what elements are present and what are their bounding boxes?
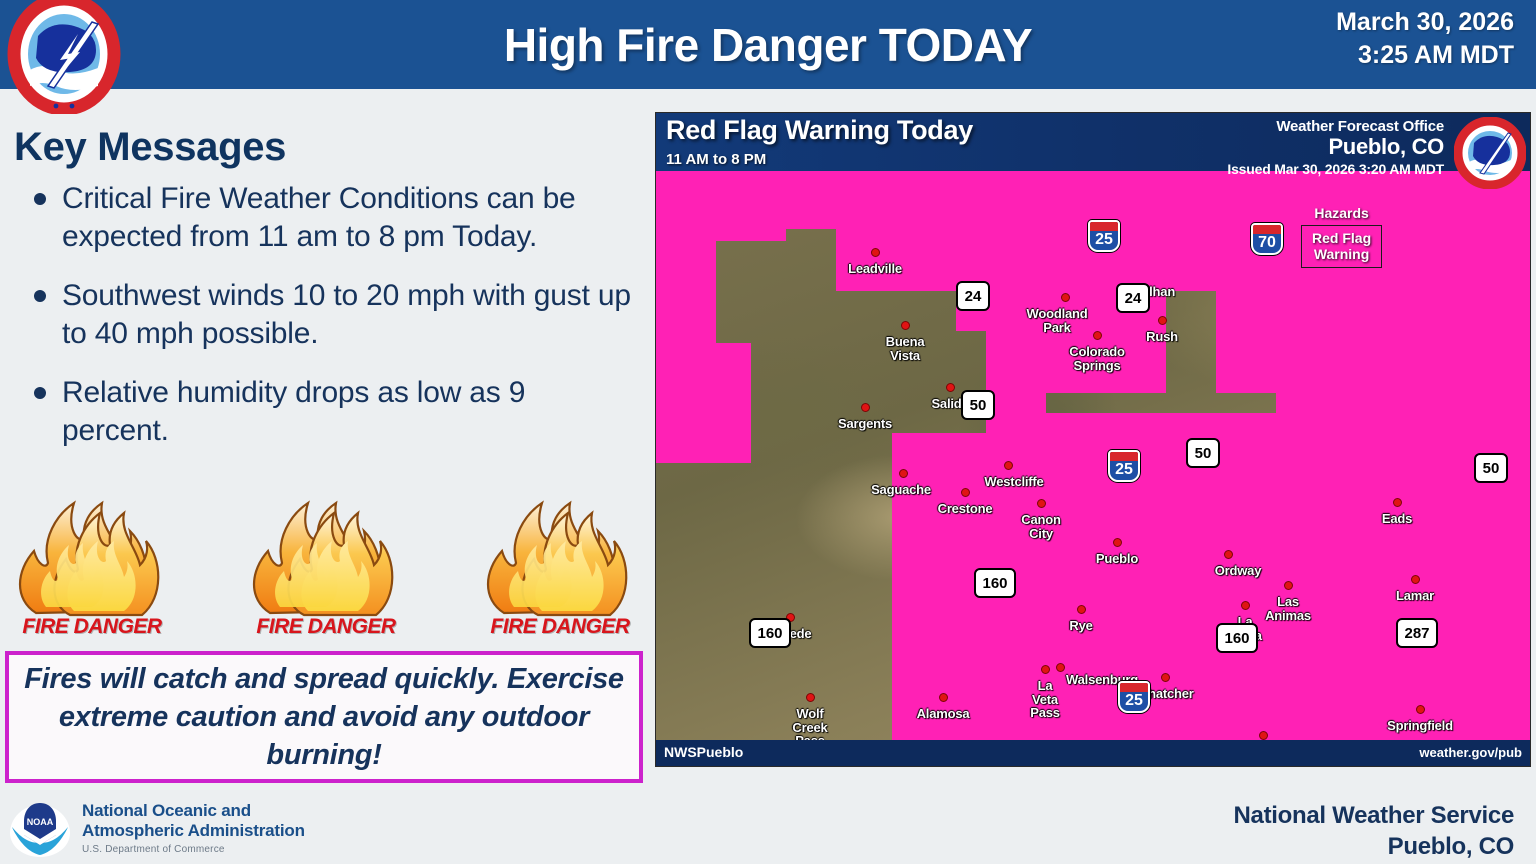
warning-area-polygon bbox=[656, 201, 786, 241]
city-label: Pueblo bbox=[1096, 552, 1138, 566]
svg-text:NOAA: NOAA bbox=[27, 817, 54, 827]
list-item: Critical Fire Weather Conditions can be … bbox=[28, 180, 638, 255]
us-highway-shield-icon: 287 bbox=[1396, 618, 1438, 648]
interstate-shield-icon: 25 bbox=[1108, 450, 1140, 482]
shield-number: 25 bbox=[1118, 681, 1150, 713]
fire-danger-icon-row: FIRE DANGER FIRE DANGER FIRE D bbox=[6, 495, 646, 647]
warning-area-polygon bbox=[836, 171, 1531, 291]
city-label: Canon City bbox=[1021, 513, 1060, 540]
us-highway-shield-icon: 160 bbox=[1216, 623, 1258, 653]
city-label: Eads bbox=[1382, 512, 1412, 526]
shield-number: 24 bbox=[1116, 283, 1150, 313]
warning-area-polygon bbox=[656, 343, 751, 463]
nws-seal-icon bbox=[1454, 117, 1526, 189]
map-wfo-block: Weather Forecast Office Pueblo, CO Issue… bbox=[1227, 118, 1444, 177]
shield-number: 160 bbox=[1216, 623, 1258, 653]
city-label: Colorado Springs bbox=[1069, 345, 1124, 372]
map-title: Red Flag Warning Today bbox=[666, 115, 973, 146]
city-dot-icon bbox=[1411, 575, 1420, 584]
nws-footer-line-2: Pueblo, CO bbox=[1234, 832, 1514, 863]
list-item: Southwest winds 10 to 20 mph with gust u… bbox=[28, 277, 638, 352]
hazards-legend: Hazards Red Flag Warning bbox=[1301, 205, 1382, 268]
header-time: 3:25 AM MDT bbox=[1336, 39, 1514, 72]
city-dot-icon bbox=[1077, 605, 1086, 614]
city-label: Woodland Park bbox=[1027, 307, 1088, 334]
map-footer-bar: NWSPueblo weather.gov/pub bbox=[656, 740, 1531, 766]
key-messages-panel: Key Messages Critical Fire Weather Condi… bbox=[0, 95, 650, 795]
city-label: La Veta Pass bbox=[1030, 679, 1060, 720]
header-date: March 30, 2026 bbox=[1336, 6, 1514, 39]
city-dot-icon bbox=[861, 403, 870, 412]
us-highway-shield-icon: 160 bbox=[749, 618, 791, 648]
city-dot-icon bbox=[946, 383, 955, 392]
nws-footer-block: National Weather Service Pueblo, CO bbox=[1234, 801, 1514, 862]
flame-icon bbox=[246, 495, 406, 619]
warning-callout-text: Fires will catch and spread quickly. Exe… bbox=[9, 660, 639, 775]
shield-number: 50 bbox=[1474, 453, 1508, 483]
page-header: High Fire Danger TODAY March 30, 2026 3:… bbox=[0, 0, 1536, 89]
us-highway-shield-icon: 50 bbox=[1186, 438, 1220, 468]
city-label: Saguache bbox=[871, 483, 931, 497]
shield-number: 50 bbox=[1186, 438, 1220, 468]
city-label: Sargents bbox=[838, 417, 892, 431]
city-dot-icon bbox=[901, 321, 910, 330]
interstate-shield-icon: 70 bbox=[1251, 223, 1283, 255]
fire-danger-badge: FIRE DANGER bbox=[474, 495, 646, 647]
shield-number: 24 bbox=[956, 281, 990, 311]
page-title: High Fire Danger TODAY bbox=[0, 0, 1536, 89]
hazard-swatch-red-flag-warning: Red Flag Warning bbox=[1301, 225, 1382, 268]
city-label: Westcliffe bbox=[984, 475, 1043, 489]
city-dot-icon bbox=[806, 693, 815, 702]
city-label: Springfield bbox=[1387, 719, 1453, 733]
city-dot-icon bbox=[1241, 601, 1250, 610]
page-footer: NOAA National Oceanic and Atmospheric Ad… bbox=[0, 795, 1536, 864]
flame-icon bbox=[12, 495, 172, 619]
map-wfo-label: Weather Forecast Office bbox=[1227, 118, 1444, 135]
noaa-line-3: U.S. Department of Commerce bbox=[82, 844, 305, 855]
fire-danger-label: FIRE DANGER bbox=[256, 615, 395, 639]
city-label: Leadville bbox=[848, 262, 902, 276]
city-dot-icon bbox=[1041, 665, 1050, 674]
shield-number: 25 bbox=[1108, 450, 1140, 482]
red-flag-warning-map[interactable]: Hazards Red Flag Warning LeadvilleBuena … bbox=[655, 112, 1531, 767]
flame-icon bbox=[480, 495, 640, 619]
shield-number: 160 bbox=[974, 568, 1016, 598]
us-highway-shield-icon: 24 bbox=[956, 281, 990, 311]
city-dot-icon bbox=[939, 693, 948, 702]
city-label: Alamosa bbox=[917, 707, 970, 721]
city-label: Buena Vista bbox=[886, 335, 925, 362]
city-label: Ordway bbox=[1215, 564, 1261, 578]
shield-number: 287 bbox=[1396, 618, 1438, 648]
city-label: Lamar bbox=[1396, 589, 1434, 603]
us-highway-shield-icon: 24 bbox=[1116, 283, 1150, 313]
city-dot-icon bbox=[1061, 293, 1070, 302]
city-dot-icon bbox=[1037, 499, 1046, 508]
city-dot-icon bbox=[961, 488, 970, 497]
city-dot-icon bbox=[1224, 550, 1233, 559]
noaa-logo-icon: NOAA bbox=[6, 801, 74, 861]
city-label: Rye bbox=[1069, 619, 1092, 633]
hazards-legend-title: Hazards bbox=[1301, 205, 1382, 221]
fire-danger-graphic: High Fire Danger TODAY March 30, 2026 3:… bbox=[0, 0, 1536, 864]
map-title-bar: Red Flag Warning Today 11 AM to 8 PM Wea… bbox=[656, 113, 1531, 171]
city-dot-icon bbox=[1393, 498, 1402, 507]
interstate-shield-icon: 25 bbox=[1088, 220, 1120, 252]
shield-number: 25 bbox=[1088, 220, 1120, 252]
warning-area-polygon bbox=[1276, 363, 1531, 533]
us-highway-shield-icon: 50 bbox=[961, 390, 995, 420]
shield-number: 70 bbox=[1251, 223, 1283, 255]
city-dot-icon bbox=[1161, 673, 1170, 682]
us-highway-shield-icon: 50 bbox=[1474, 453, 1508, 483]
list-item: Relative humidity drops as low as 9 perc… bbox=[28, 374, 638, 449]
warning-callout-box: Fires will catch and spread quickly. Exe… bbox=[5, 651, 643, 783]
interstate-shield-icon: 25 bbox=[1118, 681, 1150, 713]
city-label: Crestone bbox=[938, 502, 993, 516]
map-issued-time: Issued Mar 30, 2026 3:20 AM MDT bbox=[1227, 161, 1444, 177]
city-label: Rush bbox=[1146, 330, 1178, 344]
city-dot-icon bbox=[1259, 731, 1268, 740]
map-wfo-office: Pueblo, CO bbox=[1227, 134, 1444, 160]
map-website-url: weather.gov/pub bbox=[1419, 745, 1522, 760]
city-dot-icon bbox=[1093, 331, 1102, 340]
noaa-wordmark: National Oceanic and Atmospheric Adminis… bbox=[82, 801, 305, 855]
fire-danger-label: FIRE DANGER bbox=[490, 615, 629, 639]
fire-danger-badge: FIRE DANGER bbox=[240, 495, 412, 647]
city-dot-icon bbox=[899, 469, 908, 478]
key-messages-list: Critical Fire Weather Conditions can be … bbox=[28, 180, 638, 471]
city-dot-icon bbox=[871, 248, 880, 257]
noaa-line-2: Atmospheric Administration bbox=[82, 821, 305, 841]
fire-danger-badge: FIRE DANGER bbox=[6, 495, 178, 647]
city-dot-icon bbox=[1056, 663, 1065, 672]
shield-number: 50 bbox=[961, 390, 995, 420]
key-messages-heading: Key Messages bbox=[14, 125, 286, 170]
city-dot-icon bbox=[1113, 538, 1122, 547]
city-dot-icon bbox=[1416, 705, 1425, 714]
nws-footer-line-1: National Weather Service bbox=[1234, 801, 1514, 832]
map-subtitle: 11 AM to 8 PM bbox=[666, 151, 766, 168]
us-highway-shield-icon: 160 bbox=[974, 568, 1016, 598]
city-dot-icon bbox=[1158, 316, 1167, 325]
shield-number: 160 bbox=[749, 618, 791, 648]
header-datetime: March 30, 2026 3:25 AM MDT bbox=[1336, 6, 1514, 72]
city-dot-icon bbox=[1004, 461, 1013, 470]
noaa-line-1: National Oceanic and bbox=[82, 801, 305, 821]
fire-danger-label: FIRE DANGER bbox=[22, 615, 161, 639]
city-label: Las Animas bbox=[1265, 595, 1311, 622]
city-dot-icon bbox=[1284, 581, 1293, 590]
map-attribution: NWSPueblo bbox=[664, 744, 743, 760]
